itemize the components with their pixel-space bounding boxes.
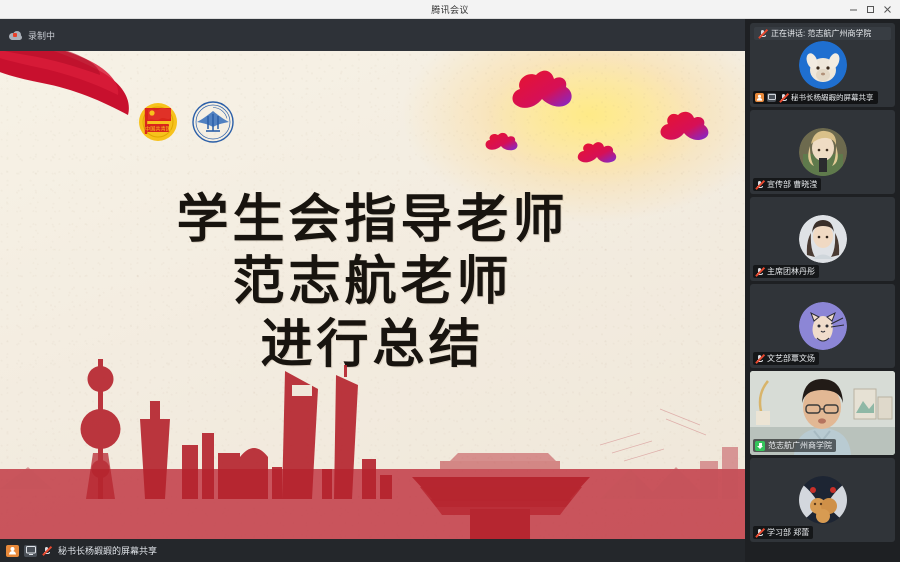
participant-tile-1[interactable]: 正在讲话: 范志航广州商学院 秘书长杨嘏嘏的屏幕共享 bbox=[750, 23, 895, 107]
mic-off-icon bbox=[755, 180, 764, 189]
participant-tile-4[interactable]: 文艺部覃文炀 bbox=[750, 284, 895, 368]
cloud-record-icon bbox=[9, 31, 22, 40]
participant-name-badge: 宣传部 曹晓滢 bbox=[753, 178, 821, 191]
participant-name-badge: 学习部 郑蕾 bbox=[753, 526, 813, 539]
avatar bbox=[799, 41, 847, 89]
slide-title-line-2: 范志航老师 bbox=[0, 251, 745, 313]
mic-off-icon bbox=[755, 267, 764, 276]
window-title: 腾讯会议 bbox=[431, 3, 469, 16]
avatar bbox=[799, 302, 847, 350]
shared-screen-slide[interactable]: 中国共青团 bbox=[0, 51, 745, 539]
participant-name: 主席团林丹彤 bbox=[767, 266, 815, 277]
restore-icon bbox=[866, 5, 875, 14]
communist-youth-league-emblem: 中国共青团 bbox=[138, 102, 178, 142]
participant-icon bbox=[755, 93, 764, 102]
mic-off-icon bbox=[758, 29, 767, 38]
close-icon bbox=[883, 5, 892, 14]
window-controls bbox=[845, 0, 896, 19]
tencent-meeting-window: 腾讯会议 bbox=[0, 0, 900, 562]
participant-name-badge: 主席团林丹彤 bbox=[753, 265, 819, 278]
participant-tile-6[interactable]: 学习部 郑蕾 bbox=[750, 458, 895, 542]
avatar bbox=[799, 215, 847, 263]
close-button[interactable] bbox=[879, 1, 896, 18]
mic-off-icon bbox=[755, 528, 764, 537]
university-emblem bbox=[192, 101, 234, 143]
avatar bbox=[799, 128, 847, 176]
participant-name-badge: 秘书长杨嘏嘏的屏幕共享 bbox=[753, 91, 878, 104]
mic-off-icon bbox=[42, 546, 51, 555]
speaking-indicator-banner: 正在讲话: 范志航广州商学院 bbox=[754, 27, 891, 40]
participant-name-badge: 范志航广州商学院 bbox=[753, 439, 836, 452]
participant-name: 范志航广州商学院 bbox=[768, 440, 832, 451]
slide-emblems: 中国共青团 bbox=[138, 101, 234, 143]
download-icon bbox=[755, 441, 765, 451]
share-status-text: 秘书长杨嘏嘏的屏幕共享 bbox=[58, 544, 157, 557]
participant-tile-3[interactable]: 主席团林丹彤 bbox=[750, 197, 895, 281]
phoenix-birds-decoration bbox=[440, 57, 740, 177]
participant-sidebar[interactable]: 正在讲话: 范志航广州商学院 秘书长杨嘏嘏的屏幕共享 bbox=[745, 19, 900, 562]
slide-title: 学生会指导老师 范志航老师 进行总结 bbox=[0, 189, 745, 376]
participant-name: 秘书长杨嘏嘏的屏幕共享 bbox=[791, 92, 874, 103]
meeting-stage: 录制中 bbox=[0, 19, 745, 562]
minimize-button[interactable] bbox=[845, 1, 862, 18]
maximize-restore-button[interactable] bbox=[862, 1, 879, 18]
participant-tile-5-active-speaker[interactable]: 范志航广州商学院 bbox=[750, 371, 895, 455]
mic-off-icon bbox=[779, 93, 788, 102]
screen-share-icon bbox=[24, 545, 37, 557]
participant-name-badge: 文艺部覃文炀 bbox=[753, 352, 819, 365]
avatar bbox=[799, 476, 847, 524]
minimize-icon bbox=[849, 5, 858, 14]
participant-name: 学习部 郑蕾 bbox=[767, 527, 809, 538]
screen-share-icon bbox=[767, 93, 776, 102]
mic-off-icon bbox=[755, 354, 764, 363]
participant-name: 宣传部 曹晓滢 bbox=[767, 179, 817, 190]
speaking-indicator-text: 正在讲话: 范志航广州商学院 bbox=[771, 28, 871, 39]
participant-icon bbox=[6, 545, 19, 557]
recording-bar: 录制中 bbox=[0, 19, 745, 51]
screen-share-status-bar: 秘书长杨嘏嘏的屏幕共享 bbox=[0, 539, 745, 562]
window-title-bar: 腾讯会议 bbox=[0, 0, 900, 19]
recording-label: 录制中 bbox=[28, 29, 55, 42]
participant-tile-2[interactable]: 宣传部 曹晓滢 bbox=[750, 110, 895, 194]
participant-name: 文艺部覃文炀 bbox=[767, 353, 815, 364]
slide-title-line-3: 进行总结 bbox=[0, 314, 745, 376]
shanghai-skyline-illustration bbox=[0, 349, 745, 539]
svg-text:中国共青团: 中国共青团 bbox=[145, 124, 171, 132]
slide-title-line-1: 学生会指导老师 bbox=[0, 189, 745, 251]
